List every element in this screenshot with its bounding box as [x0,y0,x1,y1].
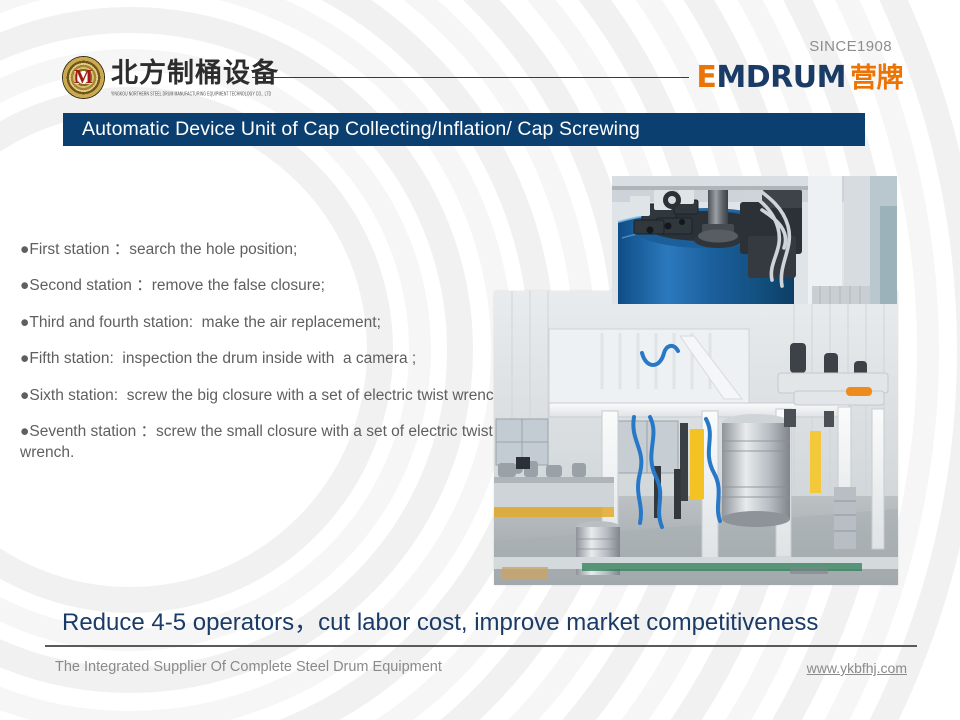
footer-divider [45,645,917,647]
list-item: ●Sixth station: screw the big closure wi… [20,386,520,406]
logo-chinese-name: 北方制桶设备 [111,60,279,87]
slide-header: 北方制桶设备 YINGKOU NORTHERN STEEL DRUM MANUF… [0,0,960,110]
slide-title-text: Automatic Device Unit of Cap Collecting/… [63,118,640,141]
list-item: ●Fifth station: inspection the drum insi… [20,349,520,369]
brand-mdrum: MDRUM [716,60,846,95]
photo-cap-screwing-closeup [612,176,897,304]
footer-website-link[interactable]: www.ykbfhj.com [807,660,907,676]
list-item: ●Third and fourth station: make the air … [20,313,520,333]
since-label: SINCE1908 [809,38,892,55]
footer-slogan: The Integrated Supplier Of Complete Stee… [55,659,442,675]
brand-chinese: 营牌 [850,63,903,94]
slide-canvas: 北方制桶设备 YINGKOU NORTHERN STEEL DRUM MANUF… [0,0,960,720]
brand-letter-e: E [696,60,716,95]
company-logo: 北方制桶设备 YINGKOU NORTHERN STEEL DRUM MANUF… [63,57,279,98]
photo-production-line [494,291,898,585]
list-item: ●First station ：search the hole position… [20,240,520,260]
slide-title-bar: Automatic Device Unit of Cap Collecting/… [63,113,865,146]
brand-wordmark: EMDRUM营牌 [696,63,903,93]
logo-medallion-icon [63,57,104,98]
list-item: ●Second station ：remove the false closur… [20,276,520,296]
list-item: ●Seventh station ：screw the small closur… [20,422,520,463]
header-divider [252,77,689,78]
tagline-text: Reduce 4-5 operators，cut labor cost, imp… [62,602,818,637]
logo-english-name: YINGKOU NORTHERN STEEL DRUM MANUFACTURIN… [111,91,279,97]
feature-bullet-list: ●First station ：search the hole position… [20,240,520,479]
